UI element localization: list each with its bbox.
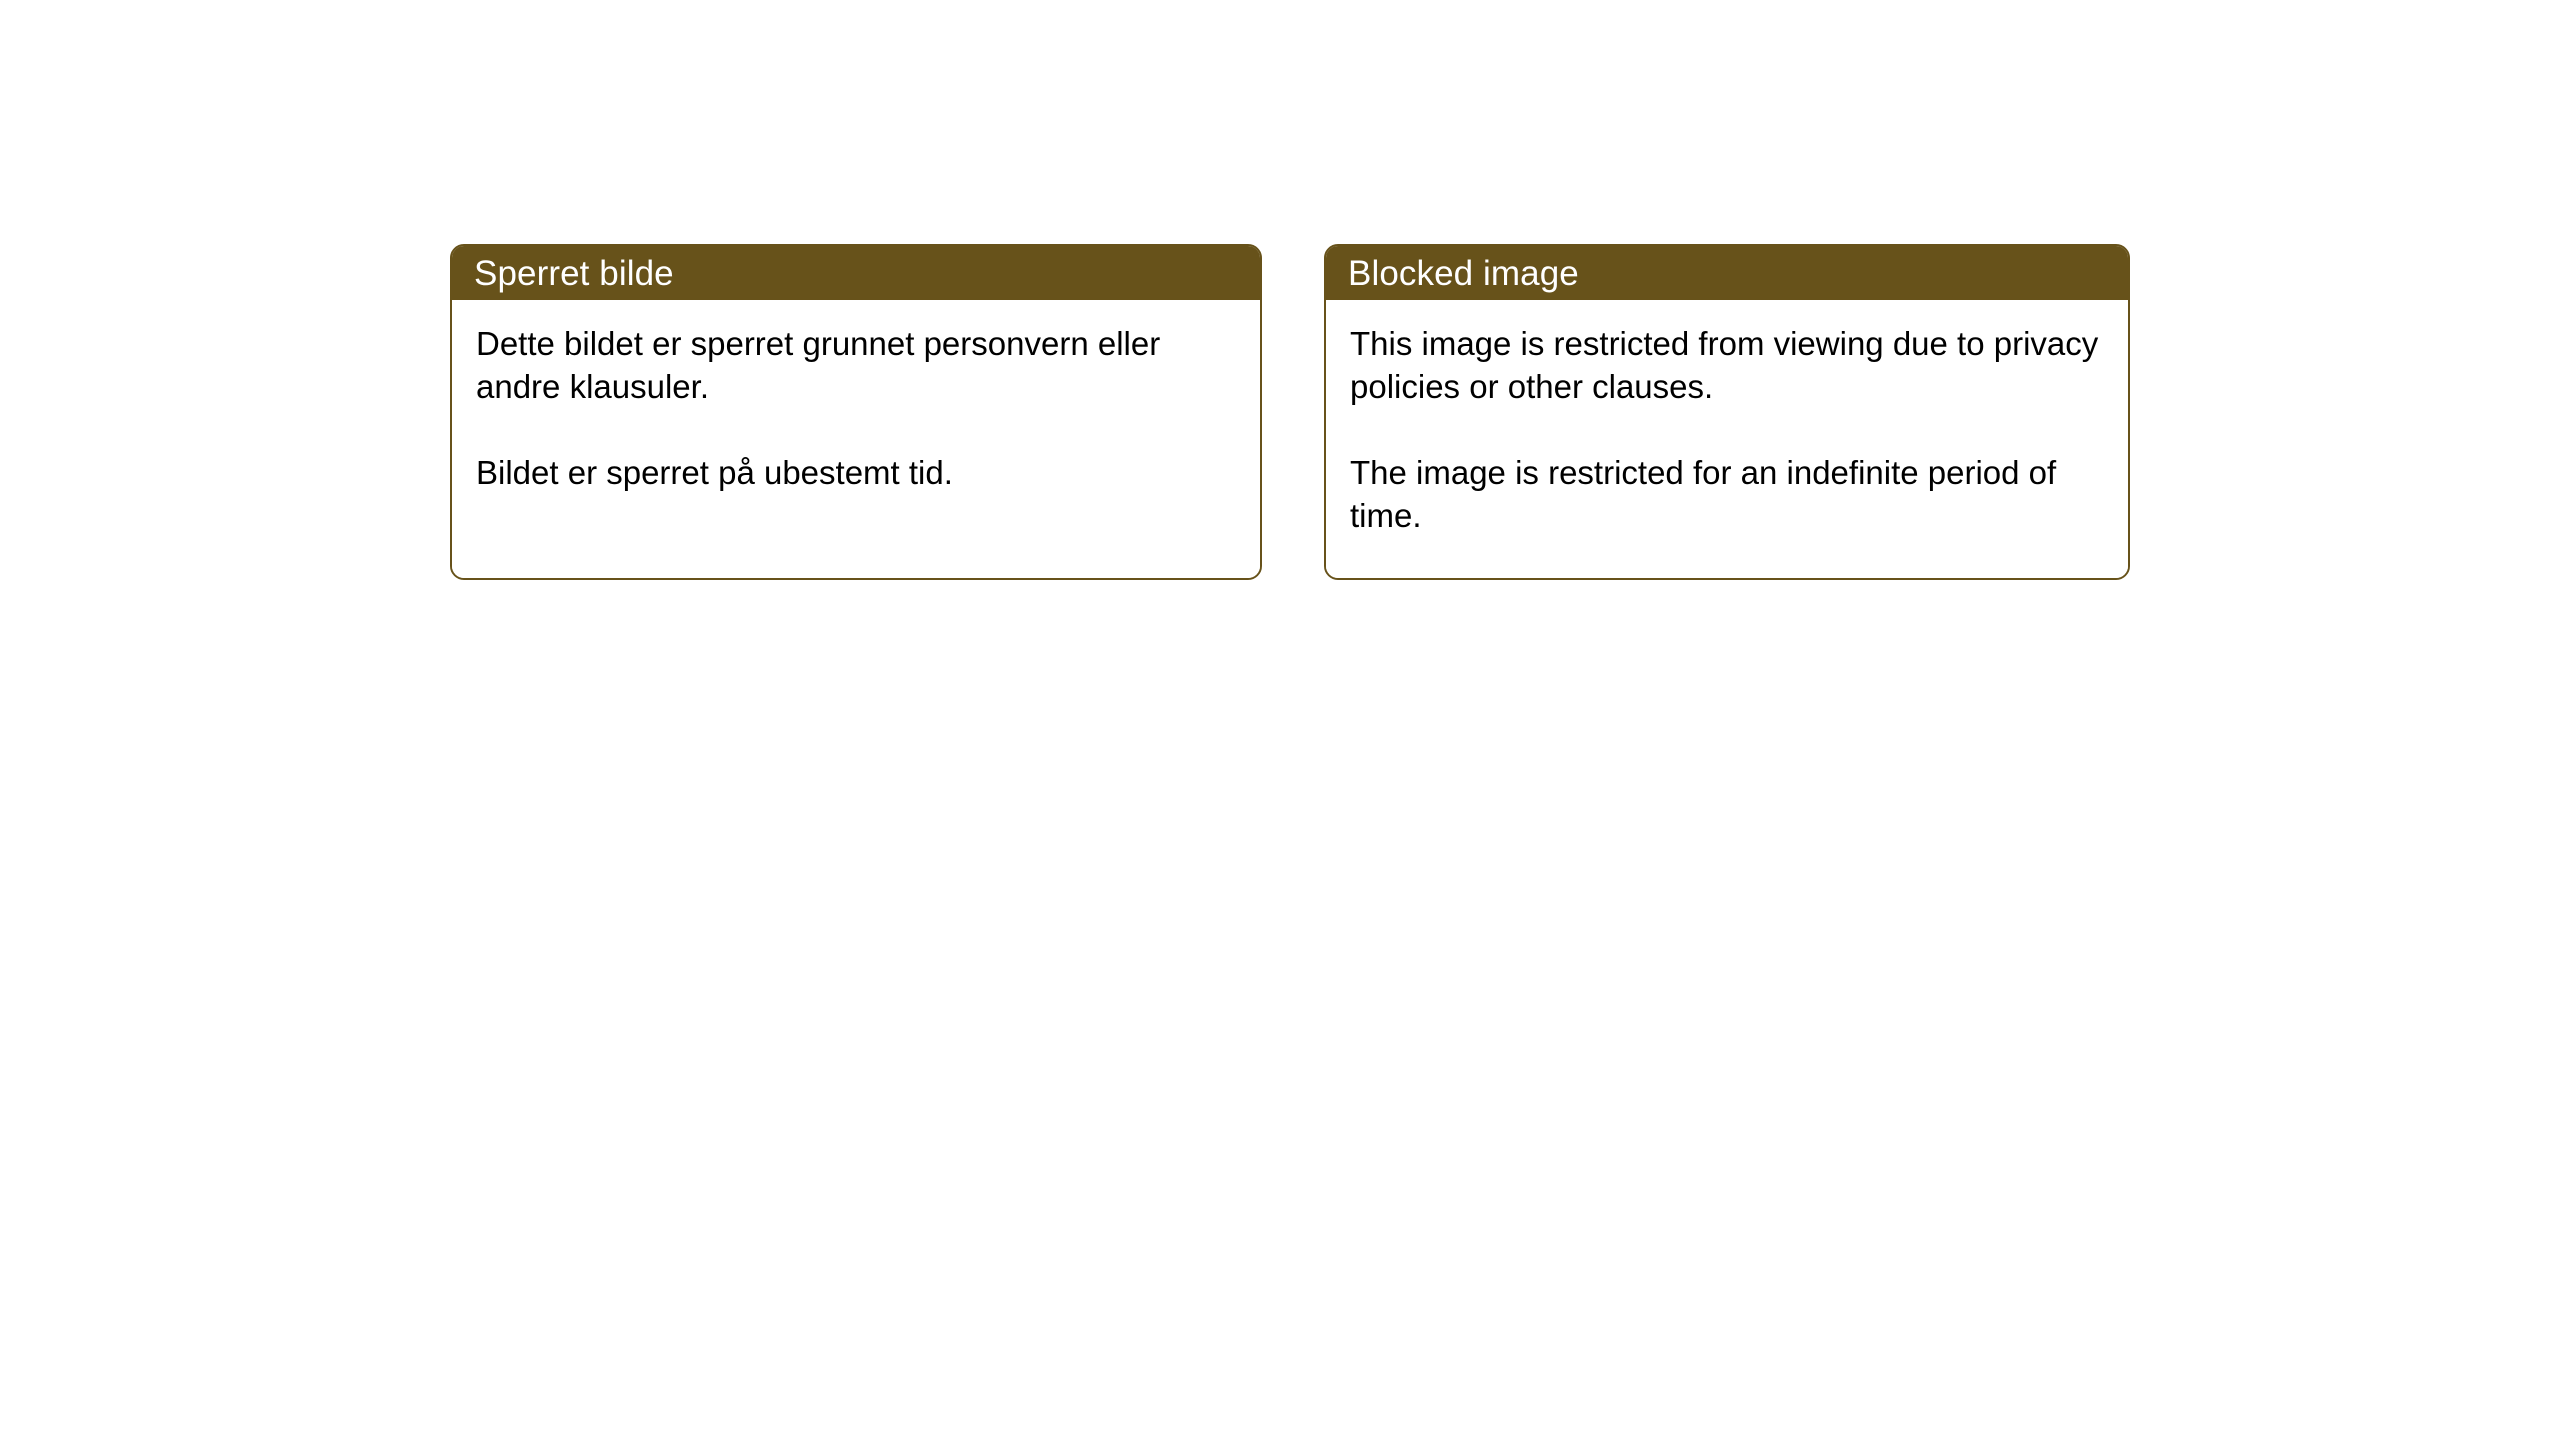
card-paragraph-reason-norwegian: Dette bildet er sperret grunnet personve… <box>476 322 1234 408</box>
blocked-image-notice-group: Sperret bilde Dette bildet er sperret gr… <box>450 244 2130 580</box>
blocked-image-card-norwegian: Sperret bilde Dette bildet er sperret gr… <box>450 244 1262 580</box>
card-paragraph-reason-english: This image is restricted from viewing du… <box>1350 322 2102 408</box>
card-body-english: This image is restricted from viewing du… <box>1326 300 2128 578</box>
blocked-image-card-english: Blocked image This image is restricted f… <box>1324 244 2130 580</box>
card-header-norwegian: Sperret bilde <box>452 246 1260 300</box>
card-header-english: Blocked image <box>1326 246 2128 300</box>
card-title-english: Blocked image <box>1348 256 1579 291</box>
card-paragraph-duration-english: The image is restricted for an indefinit… <box>1350 451 2102 537</box>
card-title-norwegian: Sperret bilde <box>474 256 674 291</box>
card-body-norwegian: Dette bildet er sperret grunnet personve… <box>452 300 1260 578</box>
card-paragraph-duration-norwegian: Bildet er sperret på ubestemt tid. <box>476 451 1234 494</box>
